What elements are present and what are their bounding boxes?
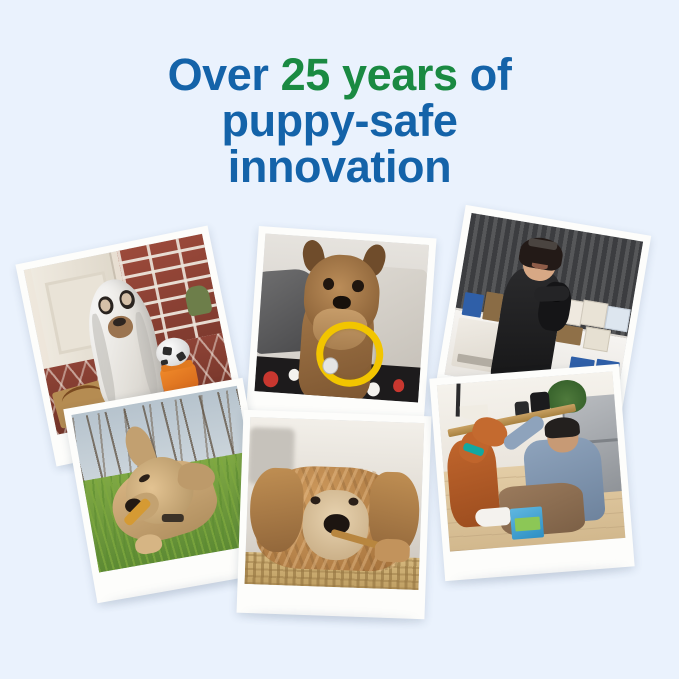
headline-line-3: innovation [0, 144, 679, 190]
page-title: Over 25 years of puppy-safe innovation [0, 52, 679, 190]
headline-accent-25-years: 25 years [281, 49, 458, 100]
photo-yorkie-yellow-ring [245, 226, 436, 431]
photo-image-goldendoodle-puppy [245, 417, 425, 590]
headline-text-over: Over [168, 49, 281, 100]
photo-image-man-vizsla-kitchen [437, 371, 626, 551]
scene-yorkie-yellow-ring [254, 233, 429, 402]
scene-tan-dog-grass [71, 386, 264, 573]
headline-line-1: Over 25 years of [0, 52, 679, 98]
promo-banner: Over 25 years of puppy-safe innovation [0, 0, 679, 679]
photo-image-yorkie-yellow-ring [254, 233, 429, 402]
photo-goldendoodle-puppy [237, 410, 432, 619]
scene-man-vizsla-kitchen [437, 371, 626, 551]
headline-text-of: of [458, 49, 512, 100]
scene-goldendoodle-puppy [245, 417, 425, 590]
headline-line-2: puppy-safe [0, 98, 679, 144]
photo-image-tan-dog-grass [71, 386, 264, 573]
photo-man-vizsla-kitchen [429, 364, 634, 581]
